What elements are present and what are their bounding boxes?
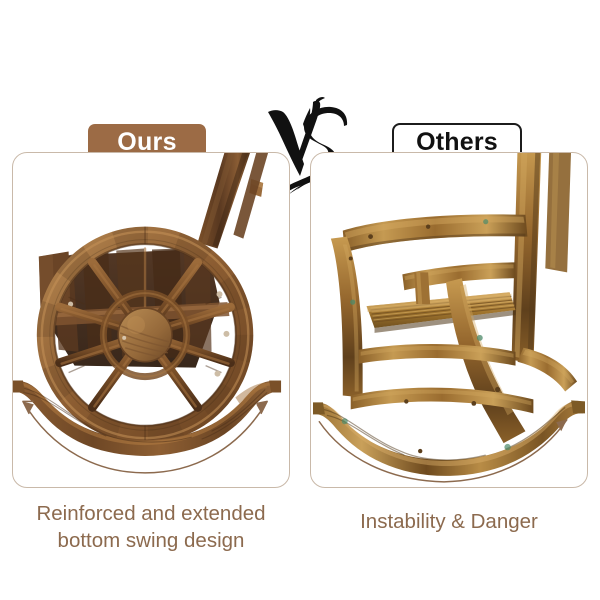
ours-product-panel <box>12 152 290 488</box>
chair-back-frame <box>512 153 572 364</box>
ours-caption-line2: bottom swing design <box>12 527 290 554</box>
others-product-panel <box>310 152 588 488</box>
ours-caption: Reinforced and extended bottom swing des… <box>12 500 290 554</box>
wagon-wheel-rocking-chair-illustration <box>13 153 289 487</box>
others-caption: Instability & Danger <box>310 508 588 535</box>
ours-caption-line1: Reinforced and extended <box>12 500 290 527</box>
others-caption-line1: Instability & Danger <box>310 508 588 535</box>
left-front-post <box>331 237 363 398</box>
log-style-rocking-chair-illustration <box>311 153 587 487</box>
rear-rocker-arm <box>518 348 578 392</box>
top-rail <box>343 214 528 252</box>
ours-badge-label: Ours <box>117 130 177 155</box>
rocker-runner <box>313 400 585 475</box>
others-badge-label: Others <box>416 130 498 155</box>
comparison-header: Ours <box>0 52 600 152</box>
lower-stretchers <box>351 344 534 413</box>
